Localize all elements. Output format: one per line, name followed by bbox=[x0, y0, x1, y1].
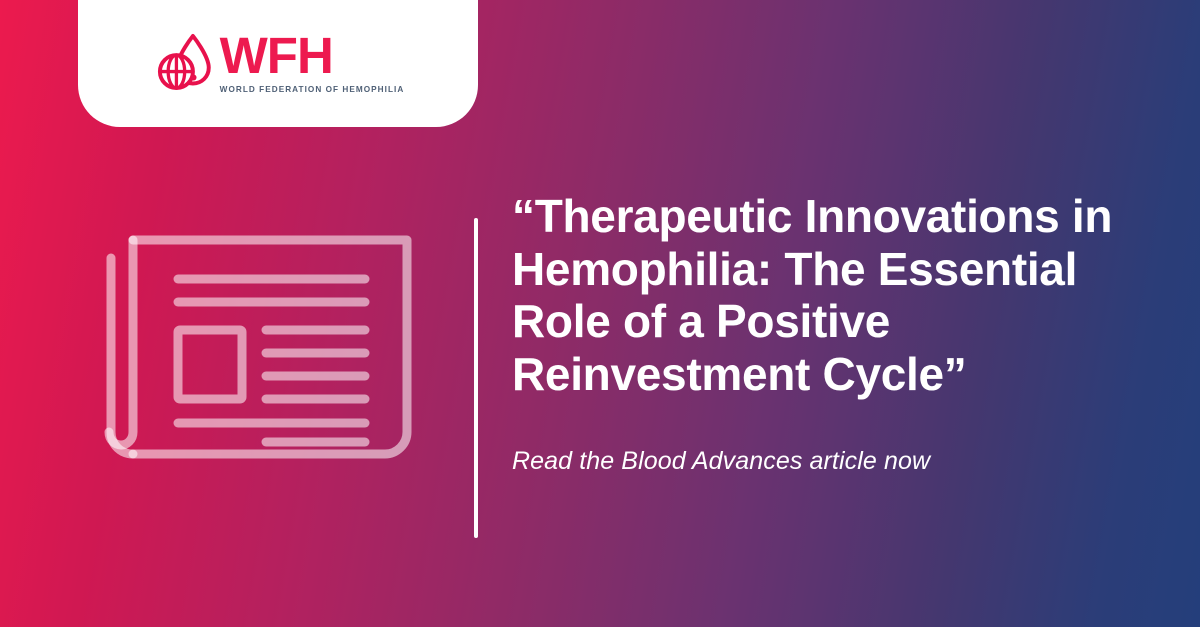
logo-lockup: WFH WORLD FEDERATION OF HEMOPHILIA bbox=[152, 30, 405, 96]
logo-wordmark: WFH bbox=[220, 32, 333, 81]
promo-banner: WFH WORLD FEDERATION OF HEMOPHILIA bbox=[0, 0, 1200, 627]
logo-text-block: WFH WORLD FEDERATION OF HEMOPHILIA bbox=[220, 30, 405, 95]
blood-drop-globe-icon bbox=[152, 30, 218, 96]
headline: “Therapeutic Innovations in Hemophilia: … bbox=[512, 190, 1180, 401]
text-block: “Therapeutic Innovations in Hemophilia: … bbox=[512, 190, 1180, 476]
logo-tagline: WORLD FEDERATION OF HEMOPHILIA bbox=[220, 85, 405, 94]
call-to-action-text: Read the Blood Advances article now bbox=[512, 447, 1180, 476]
vertical-divider bbox=[474, 218, 478, 538]
newspaper-icon bbox=[88, 218, 426, 466]
logo-card: WFH WORLD FEDERATION OF HEMOPHILIA bbox=[78, 0, 478, 127]
